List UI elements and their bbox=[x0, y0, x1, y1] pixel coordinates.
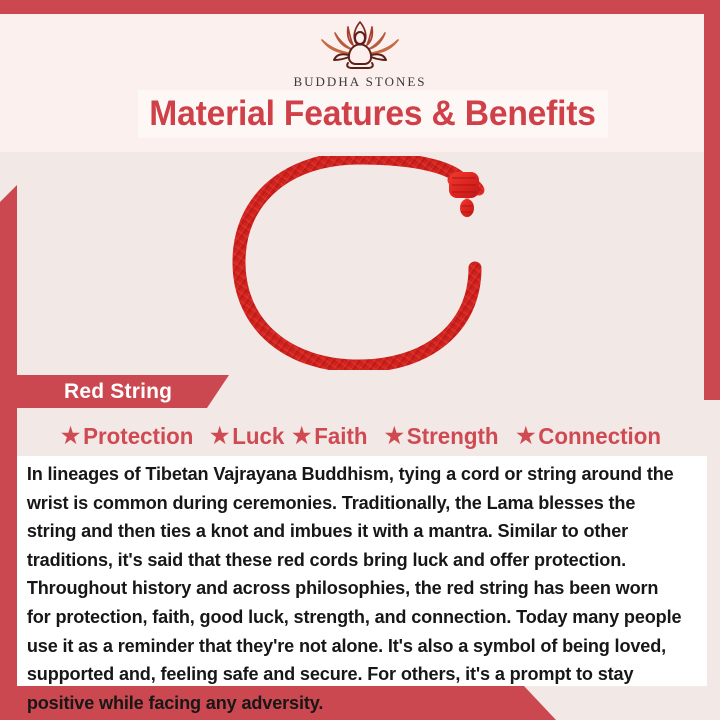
benefit-item-luck: ★ Luck bbox=[211, 423, 285, 450]
page-title: Material Features & Benefits bbox=[150, 94, 597, 134]
product-image-area bbox=[17, 152, 705, 370]
product-label: Red String bbox=[64, 380, 172, 404]
product-label-banner: Red String bbox=[17, 375, 229, 408]
lotus-meditation-logo-icon bbox=[308, 16, 412, 72]
benefits-list: ★ Protection ★ Luck ★ Faith ★ Strength ★… bbox=[17, 419, 705, 453]
star-icon: ★ bbox=[384, 425, 403, 447]
benefit-item-strength: ★ Strength bbox=[384, 423, 498, 450]
benefit-label: Connection bbox=[538, 423, 661, 450]
benefit-label: Strength bbox=[406, 423, 498, 450]
brand-name: BUDDHA STONES bbox=[293, 74, 426, 90]
benefit-item-protection: ★ Protection bbox=[61, 423, 193, 450]
infographic-page: BUDDHA STONES Material Features & Benefi… bbox=[0, 0, 720, 720]
frame-left-band bbox=[0, 184, 17, 704]
star-icon: ★ bbox=[516, 425, 535, 447]
description-card: In lineages of Tibetan Vajrayana Buddhis… bbox=[17, 456, 707, 686]
benefit-label: Protection bbox=[83, 423, 193, 450]
red-braided-string-bracelet-icon bbox=[231, 156, 491, 370]
description-paragraph: In lineages of Tibetan Vajrayana Buddhis… bbox=[17, 460, 697, 717]
star-icon: ★ bbox=[211, 425, 230, 447]
benefit-label: Luck bbox=[233, 423, 285, 450]
star-icon: ★ bbox=[61, 425, 80, 447]
brand-logo: BUDDHA STONES bbox=[0, 16, 720, 90]
star-icon: ★ bbox=[292, 425, 311, 447]
benefit-label: Faith bbox=[314, 423, 367, 450]
frame-top-band bbox=[0, 0, 720, 14]
title-banner: Material Features & Benefits bbox=[138, 90, 608, 138]
benefit-item-connection: ★ Connection bbox=[516, 423, 661, 450]
benefit-item-faith: ★ Faith bbox=[292, 423, 367, 450]
